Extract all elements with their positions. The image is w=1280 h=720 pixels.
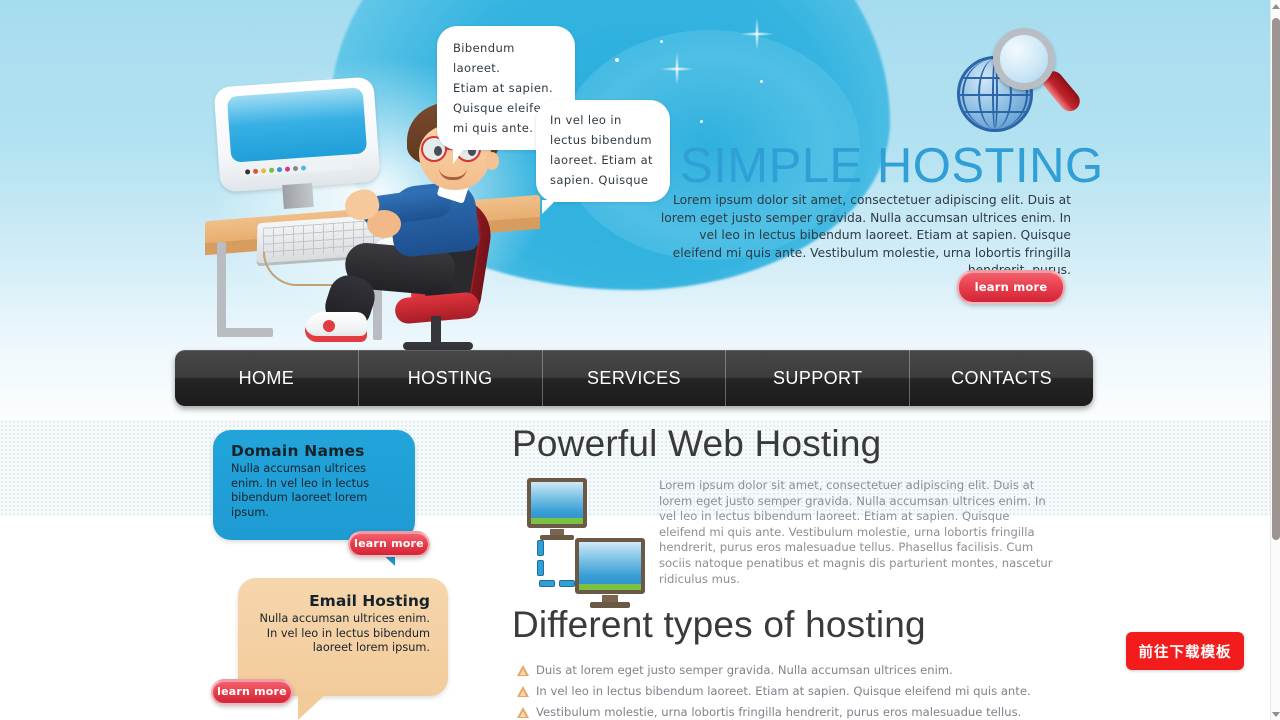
warning-triangle-icon bbox=[517, 707, 529, 718]
sidebar-bubble-domain-names[interactable]: Domain Names Nulla accumsan ultrices eni… bbox=[213, 430, 415, 540]
desk-leg bbox=[217, 242, 226, 337]
scroll-up-arrow-icon[interactable] bbox=[1271, 0, 1280, 12]
list-item-text: Vestibulum molestie, urna lobortis fring… bbox=[536, 705, 1021, 719]
bubble2-line2: lectus bibendum bbox=[550, 130, 656, 150]
globe-magnifier-icon bbox=[955, 28, 1073, 133]
nav-item-home[interactable]: HOME bbox=[175, 350, 359, 406]
boy-ear bbox=[485, 152, 499, 170]
networked-monitors-icon bbox=[513, 476, 653, 598]
hero-description: Lorem ipsum dolor sit amet, consectetuer… bbox=[653, 192, 1071, 280]
list-item: In vel leo in lectus bibendum laoreet. E… bbox=[512, 681, 1072, 702]
hero-learn-more-button[interactable]: learn more bbox=[957, 270, 1065, 304]
section-body-powerful-web-hosting: Lorem ipsum dolor sit amet, consectetuer… bbox=[659, 478, 1059, 587]
sparkle-dot bbox=[760, 80, 763, 83]
monitor-icon bbox=[575, 538, 645, 608]
bubble1-line1: Bibendum laoreet. bbox=[453, 38, 561, 78]
list-item: Vestibulum molestie, urna lobortis fring… bbox=[512, 702, 1072, 720]
page-scrollbar[interactable] bbox=[1270, 0, 1280, 720]
network-node-icon bbox=[537, 540, 544, 556]
hosting-types-list: Duis at lorem eget justo semper gravida.… bbox=[512, 660, 1072, 720]
domain-learn-more-button[interactable]: learn more bbox=[348, 531, 430, 557]
bubble2-line4: sapien. Quisque bbox=[550, 170, 656, 190]
scrollbar-thumb[interactable] bbox=[1272, 18, 1280, 540]
email-learn-more-button[interactable]: learn more bbox=[211, 679, 293, 705]
bubble1-line2: Etiam at sapien. bbox=[453, 78, 561, 98]
desk-foot bbox=[217, 328, 273, 337]
warning-triangle-icon bbox=[517, 686, 529, 697]
scroll-down-arrow-icon[interactable] bbox=[1271, 708, 1280, 720]
bubble-domain-title: Domain Names bbox=[231, 442, 401, 460]
list-item: Duis at lorem eget justo semper gravida.… bbox=[512, 660, 1072, 681]
bubble2-line1: In vel leo in bbox=[550, 110, 656, 130]
boy-shoe-detail bbox=[323, 320, 335, 332]
page-column: Bibendum laoreet. Etiam at sapien. Quisq… bbox=[0, 0, 1270, 720]
bubble-domain-text: Nulla accumsan ultrices enim. In vel leo… bbox=[231, 462, 401, 520]
network-node-icon bbox=[539, 580, 555, 587]
download-template-button[interactable]: 前往下载模板 bbox=[1126, 632, 1244, 670]
main-navigation: HOME HOSTING SERVICES SUPPORT CONTACTS bbox=[175, 350, 1093, 406]
section-heading-different-types-of-hosting: Different types of hosting bbox=[512, 604, 926, 646]
monitor-screen-icon bbox=[227, 87, 367, 162]
sparkle-dot bbox=[660, 40, 663, 43]
bubble-email-title: Email Hosting bbox=[252, 592, 430, 610]
list-item-text: Duis at lorem eget justo semper gravida.… bbox=[536, 663, 953, 677]
section-heading-powerful-web-hosting: Powerful Web Hosting bbox=[512, 423, 881, 465]
monitor-stand-icon bbox=[282, 183, 314, 209]
network-node-icon bbox=[537, 560, 544, 576]
nav-item-support[interactable]: SUPPORT bbox=[726, 350, 910, 406]
sidebar-white-panel bbox=[0, 516, 202, 720]
nav-item-services[interactable]: SERVICES bbox=[543, 350, 727, 406]
bubble-email-text: Nulla accumsan ultrices enim. In vel leo… bbox=[252, 612, 430, 656]
network-node-icon bbox=[559, 580, 575, 587]
office-chair-base bbox=[403, 342, 473, 350]
page-root: Bibendum laoreet. Etiam at sapien. Quisq… bbox=[0, 0, 1280, 720]
hero-title: SIMPLE HOSTING bbox=[680, 138, 1104, 194]
sparkle-dot bbox=[615, 58, 619, 62]
nav-item-contacts[interactable]: CONTACTS bbox=[910, 350, 1093, 406]
sparkle-dot bbox=[700, 120, 703, 123]
magnifier-lens-icon bbox=[993, 28, 1055, 90]
nav-item-hosting[interactable]: HOSTING bbox=[359, 350, 543, 406]
warning-triangle-icon bbox=[517, 665, 529, 676]
monitor-icon bbox=[527, 478, 587, 540]
bubble2-line3: laoreet. Etiam at bbox=[550, 150, 656, 170]
list-item-text: In vel leo in lectus bibendum laoreet. E… bbox=[536, 684, 1031, 698]
boy-shoe bbox=[305, 312, 367, 342]
hero-speech-bubble-2: In vel leo in lectus bibendum laoreet. E… bbox=[536, 100, 670, 202]
